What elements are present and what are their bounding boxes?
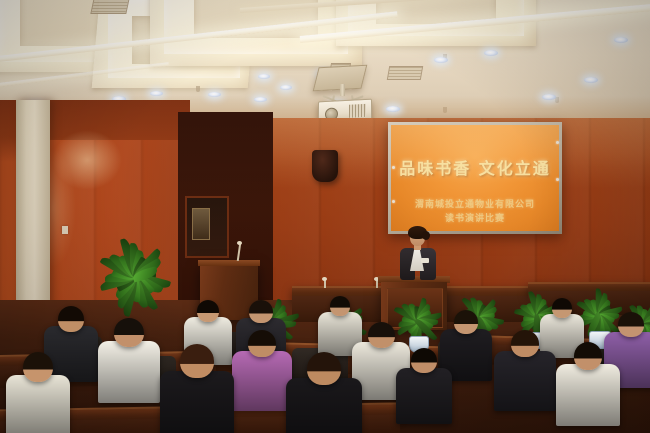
wall-niche-panel <box>192 208 210 240</box>
potted-plant <box>96 236 174 314</box>
wall-outlet-plate <box>62 226 68 234</box>
audience-member <box>98 318 160 409</box>
audience-member-head <box>411 348 437 373</box>
recessed-downlight <box>614 37 628 43</box>
screen-frame-fastener <box>392 200 395 203</box>
recessed-downlight <box>280 85 292 90</box>
screen-frame-fastener <box>556 178 559 181</box>
recessed-downlight <box>542 94 556 100</box>
audience-member-torso <box>6 375 70 433</box>
audience-member-torso <box>160 371 234 433</box>
hvac-vent <box>387 66 423 80</box>
audience-member-head <box>307 352 341 385</box>
presenter-hair-bun <box>422 231 430 240</box>
audience-member-head <box>23 352 53 382</box>
presenter-badge <box>421 258 429 263</box>
screen-subtitle-line1: 渭南城投立通物业有限公司 <box>391 197 559 210</box>
audience-member-head <box>330 296 350 316</box>
conference-hall-photo: 品味书香 文化立通 渭南城投立通物业有限公司 读书演讲比赛 <box>0 0 650 433</box>
recessed-downlight <box>258 74 270 79</box>
recessed-downlight <box>254 97 267 102</box>
audience-member-head <box>248 330 276 357</box>
audience-member-torso <box>232 351 292 411</box>
audience-member <box>396 348 452 429</box>
audience-member-torso <box>494 351 556 411</box>
audience-member-head <box>58 306 84 332</box>
sprinkler-head <box>196 86 200 92</box>
screen-frame-fastener <box>392 166 395 169</box>
screen-title: 品味书香 文化立通 <box>391 155 559 179</box>
screen-frame-fastener <box>556 141 559 144</box>
audience-member <box>6 352 70 433</box>
hvac-vent <box>90 0 129 14</box>
side-lectern-top <box>198 260 260 266</box>
audience-member-head <box>552 298 572 318</box>
audience-member <box>556 342 620 432</box>
audience-member-head <box>249 300 273 323</box>
recessed-downlight <box>150 91 163 96</box>
audience-member <box>286 352 362 433</box>
audience-member <box>160 344 234 433</box>
audience-member-head <box>454 310 478 334</box>
audience-member-head <box>618 312 644 337</box>
audience-member-torso <box>98 341 160 403</box>
microphone-head <box>322 277 327 281</box>
audience-member-head <box>368 322 395 348</box>
audience-member-head <box>180 344 214 378</box>
recessed-downlight <box>386 106 400 112</box>
audience-member-head <box>197 300 219 322</box>
audience-member-head <box>574 342 602 370</box>
screen-subtitle-line2: 读书演讲比赛 <box>391 211 559 224</box>
projection-screen[interactable]: 品味书香 文化立通 渭南城投立通物业有限公司 读书演讲比赛 <box>391 125 559 231</box>
audience-member-head <box>114 318 144 347</box>
recessed-downlight <box>584 77 598 83</box>
microphone-head <box>237 241 242 245</box>
audience-member-torso <box>286 378 362 433</box>
audience-member <box>494 330 556 417</box>
audience-member-torso <box>396 368 452 424</box>
presenter <box>398 228 438 290</box>
audience-member-head <box>511 330 539 357</box>
recessed-downlight <box>484 50 498 56</box>
recessed-downlight <box>208 92 221 97</box>
audience-member <box>232 330 292 417</box>
wall-speaker <box>312 150 338 182</box>
recessed-downlight <box>434 57 448 63</box>
audience-member-torso <box>556 364 620 426</box>
